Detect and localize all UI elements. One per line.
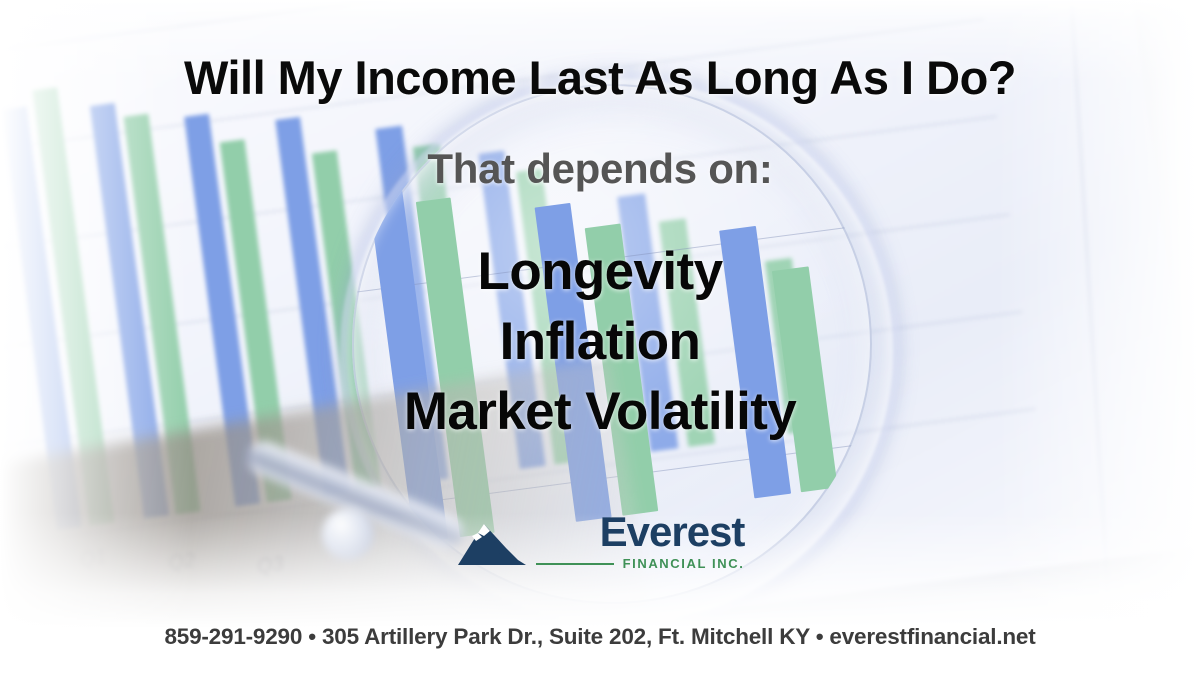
content-overlay: Will My Income Last As Long As I Do? Tha… [0, 0, 1200, 675]
brand-name: Everest [600, 512, 745, 552]
marketing-graphic: Q1 Q2 Q3 1,000 Q2 Q4 [0, 0, 1200, 675]
factor-item: Market Volatility [0, 377, 1200, 447]
subheading: That depends on: [0, 145, 1200, 193]
logo-divider-rule [536, 563, 614, 565]
factor-list: Longevity Inflation Market Volatility [0, 237, 1200, 447]
factor-item: Inflation [0, 307, 1200, 377]
footer-contact: 859-291-9290 • 305 Artillery Park Dr., S… [0, 624, 1200, 650]
page-title: Will My Income Last As Long As I Do? [0, 50, 1200, 105]
factor-item: Longevity [0, 237, 1200, 307]
brand-tagline: FINANCIAL INC. [623, 556, 745, 571]
mountain-icon [456, 522, 528, 571]
brand-logo: Everest FINANCIAL INC. [0, 512, 1200, 571]
